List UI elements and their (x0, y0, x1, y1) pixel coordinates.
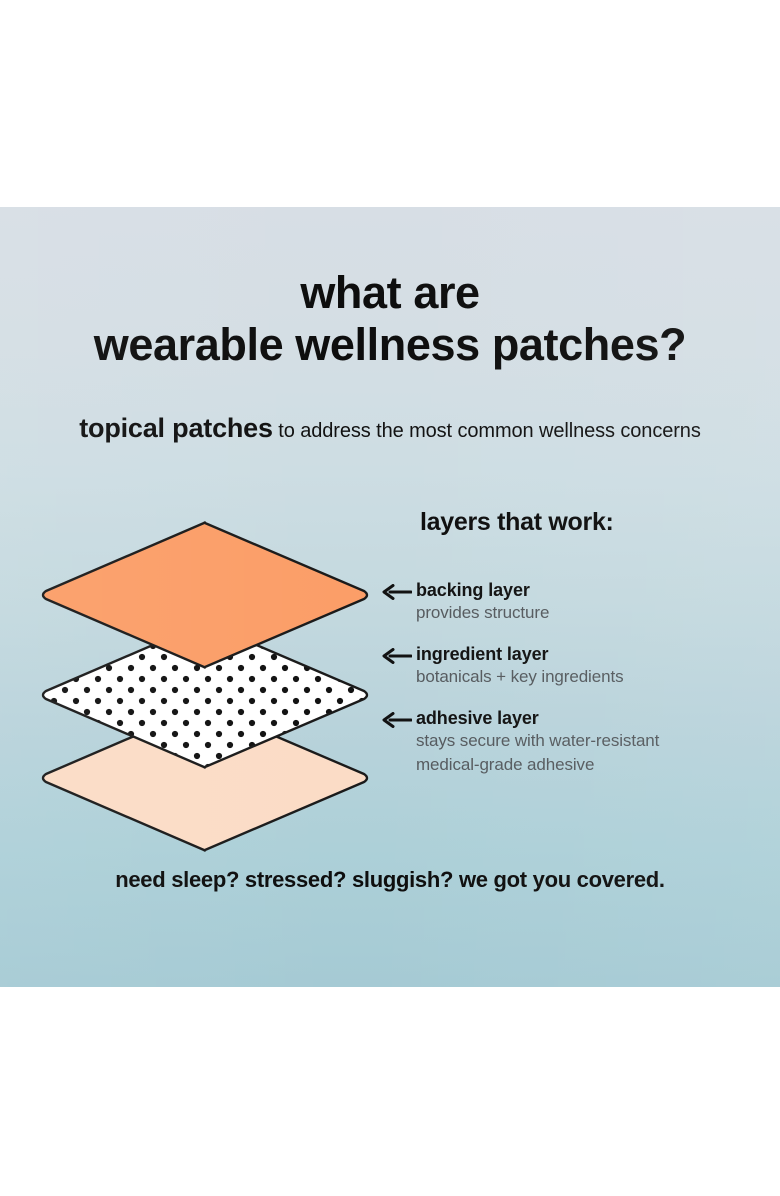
infographic-panel: what are wearable wellness patches? topi… (0, 207, 780, 987)
layer-stack-diagram (30, 507, 390, 807)
arrow-left-icon (382, 643, 416, 664)
diagram-layer-backing (38, 519, 372, 671)
callout-ingredient-layer: ingredient layer botanicals + key ingred… (382, 643, 780, 689)
callout-adhesive-layer: adhesive layer stays secure with water-r… (382, 707, 780, 777)
page-title: what are wearable wellness patches? (0, 267, 780, 371)
title-line-2: wearable wellness patches? (0, 319, 780, 371)
callout-description: botanicals + key ingredients (416, 665, 780, 689)
subtitle: topical patches to address the most comm… (0, 413, 780, 444)
callout-description: stays secure with water-resistant (416, 729, 780, 753)
title-line-1: what are (0, 267, 780, 319)
tagline: need sleep? stressed? sluggish? we got y… (0, 867, 780, 893)
callout-backing-layer: backing layer provides structure (382, 579, 780, 625)
subtitle-rest: to address the most common wellness conc… (273, 420, 701, 442)
callout-title: ingredient layer (416, 643, 780, 665)
callout-description: provides structure (416, 601, 780, 625)
callout-description-line2: medical-grade adhesive (416, 753, 780, 777)
arrow-left-icon (382, 579, 416, 600)
callouts-heading: layers that work: (420, 507, 780, 537)
callout-title: adhesive layer (416, 707, 780, 729)
layer-callouts: layers that work: backing layer provides… (382, 507, 780, 537)
arrow-left-icon (382, 707, 416, 728)
callout-title: backing layer (416, 579, 780, 601)
subtitle-bold: topical patches (79, 413, 273, 443)
